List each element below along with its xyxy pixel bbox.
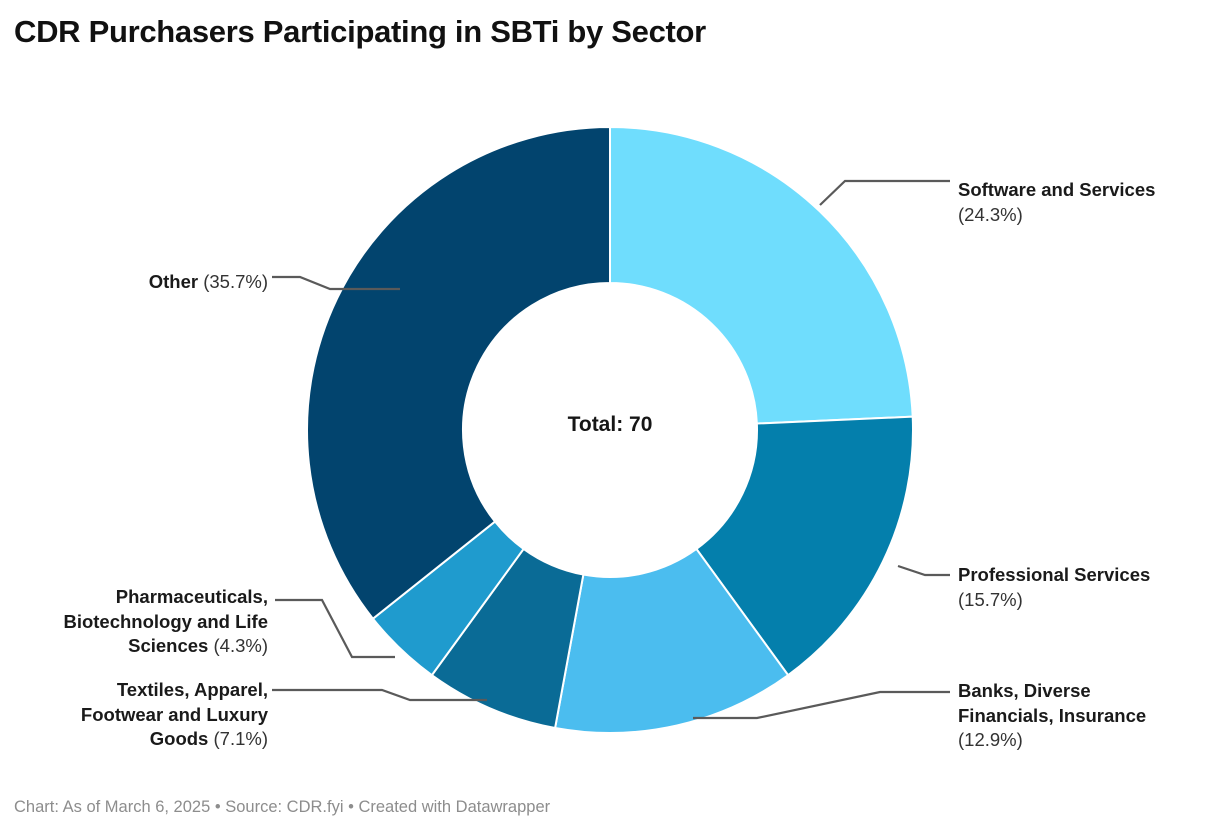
slice-label-banks-name-line1: Banks, Diverse: [958, 680, 1091, 701]
slice-label-pharmaceuticals-name-line1: Pharmaceuticals,: [116, 586, 268, 607]
pie-slice-software-and-services[interactable]: Software and Services (24.3%): [610, 127, 913, 424]
slice-label-textiles-pct: (7.1%): [214, 728, 269, 749]
slice-label-textiles-name-line1: Textiles, Apparel,: [117, 679, 268, 700]
slice-label-other-pct: (35.7%): [203, 271, 268, 292]
slice-label-professional-services: Professional Services (15.7%): [958, 563, 1208, 612]
slice-label-professional-services-pct: (15.7%): [958, 589, 1023, 610]
center-total-label: Total: 70: [510, 413, 710, 437]
slice-label-banks-pct: (12.9%): [958, 729, 1023, 750]
slice-label-other: Other (35.7%): [20, 270, 268, 295]
leader-line-software: [820, 181, 950, 205]
slice-label-software-name: Software and Services: [958, 179, 1155, 200]
slice-label-textiles-name-line3: Goods: [150, 728, 209, 749]
slice-label-software-pct: (24.3%): [958, 204, 1023, 225]
leader-line-textiles: [272, 690, 487, 700]
slice-label-banks-name-line2: Financials, Insurance: [958, 705, 1146, 726]
slice-label-textiles: Textiles, Apparel, Footwear and Luxury G…: [18, 678, 268, 752]
slice-label-banks: Banks, Diverse Financials, Insurance (12…: [958, 679, 1208, 753]
slice-label-other-name: Other: [149, 271, 198, 292]
slice-label-software: Software and Services (24.3%): [958, 178, 1208, 227]
chart-footer-note: Chart: As of March 6, 2025 • Source: CDR…: [14, 798, 550, 817]
pie-slice-other[interactable]: Other (35.7%): [307, 127, 610, 619]
leader-line-profserv: [898, 566, 950, 575]
slice-label-textiles-name-line2: Footwear and Luxury: [81, 704, 268, 725]
slice-label-pharmaceuticals-pct: (4.3%): [214, 635, 269, 656]
slice-label-pharmaceuticals: Pharmaceuticals, Biotechnology and Life …: [18, 585, 268, 659]
slice-label-pharmaceuticals-name-line3: Sciences: [128, 635, 208, 656]
slice-label-pharmaceuticals-name-line2: Biotechnology and Life: [63, 611, 268, 632]
slice-label-professional-services-name: Professional Services: [958, 564, 1150, 585]
